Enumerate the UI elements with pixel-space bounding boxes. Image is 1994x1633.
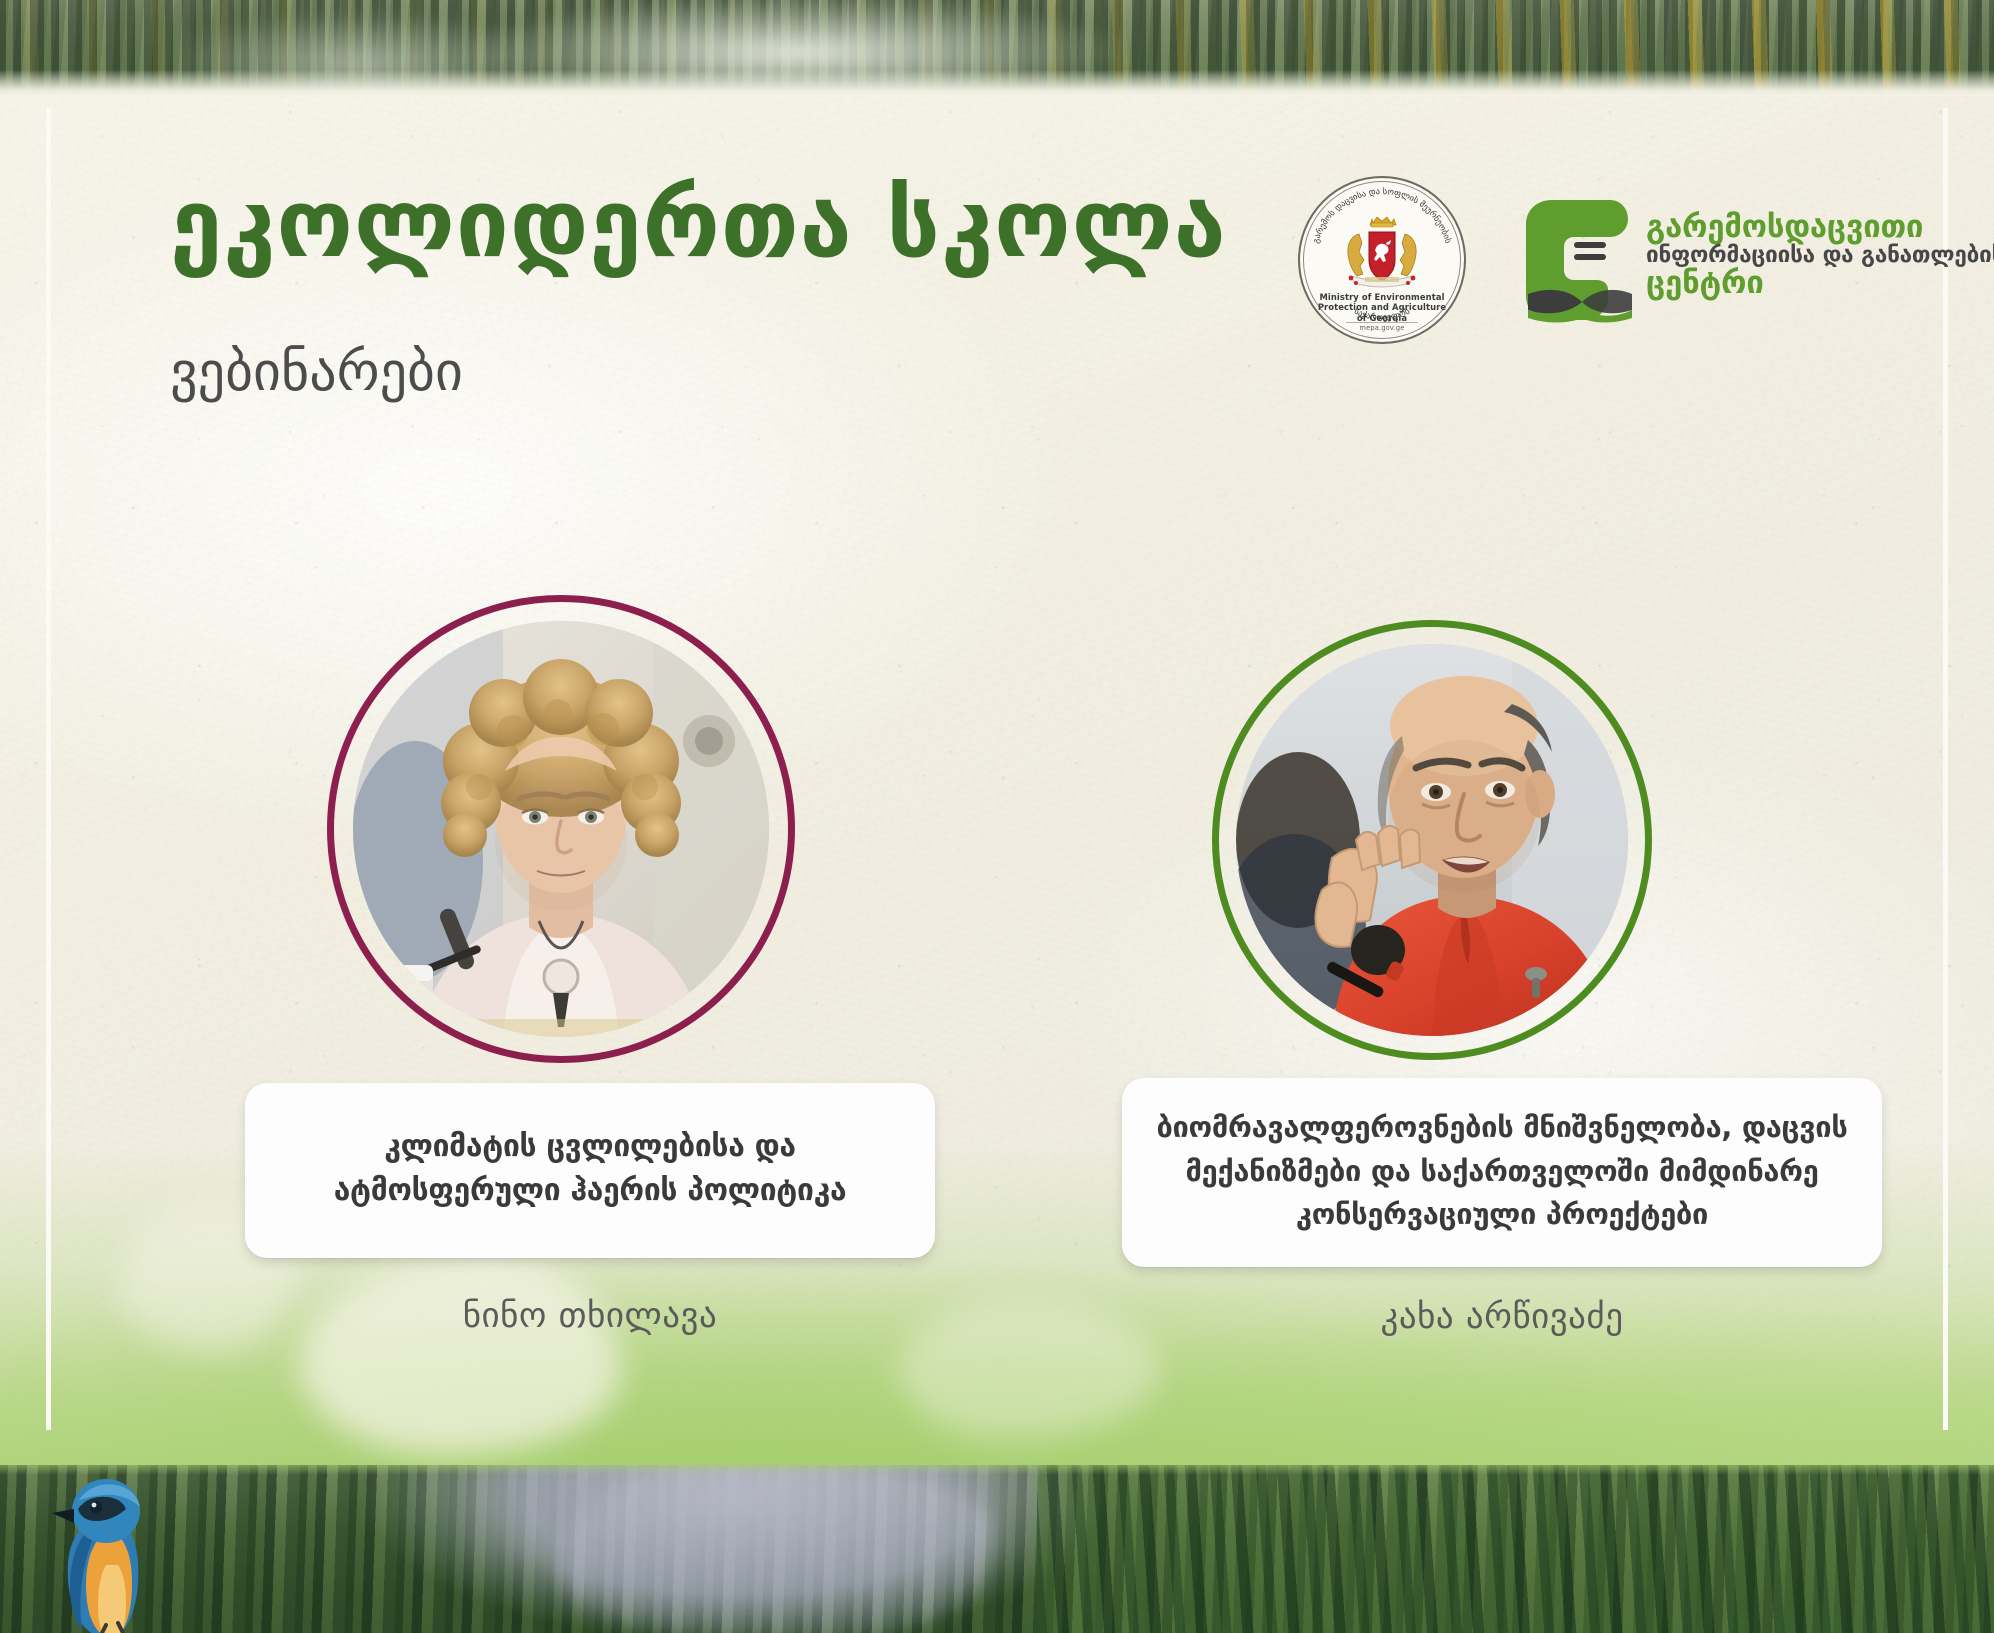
- poster-canvas: ეკოლიდერთა სკოლა ვებინარები გარემოს დაცვ…: [0, 0, 1994, 1633]
- speaker-topic-kakha-artsivadze: ბიომრავალფეროვნების მნიშვნელობა, დაცვის …: [1122, 1078, 1882, 1267]
- page-title: ეკოლიდერთა სკოლა: [170, 178, 1227, 272]
- georgia-coat-of-arms-icon: [1329, 212, 1435, 296]
- speaker-photo-kakha-artsivadze: [1236, 644, 1628, 1036]
- seal-en-line-2: Protection and Agriculture: [1298, 302, 1466, 312]
- portrait-wrap: [1212, 620, 1652, 1060]
- blue-bird-icon: [44, 1465, 220, 1633]
- eiec-logo: გარემოსდაცვითი ინფორმაციისა და განათლები…: [1516, 196, 1936, 326]
- eiec-wordmark: გარემოსდაცვითი ინფორმაციისა და განათლები…: [1646, 212, 1936, 300]
- seal-english-text: Ministry of Environmental Protection and…: [1298, 292, 1466, 323]
- portrait-wrap: [327, 595, 795, 1063]
- eiec-line-2: ინფორმაციისა და განათლების: [1646, 244, 1936, 268]
- speaker-topic-nino-tkhilava: კლიმატის ცვლილებისა და ატმოსფერული ჰაერი…: [245, 1083, 935, 1258]
- speaker-photo-nino-tkhilava: [353, 621, 769, 1037]
- frame-line-right: [1943, 108, 1948, 1430]
- speaker-card-kakha-artsivadze: ბიომრავალფეროვნების მნიშვნელობა, დაცვის …: [1122, 620, 1882, 1337]
- page-subtitle: ვებინარები: [170, 345, 463, 399]
- speaker-card-nino-tkhilava: კლიმატის ცვლილებისა და ატმოსფერული ჰაერი…: [245, 595, 935, 1336]
- seal-en-line-1: Ministry of Environmental: [1298, 292, 1466, 302]
- top-banner-image: [0, 0, 1994, 96]
- eiec-book-leaf-icon: [1516, 198, 1636, 324]
- ministry-seal-logo: გარემოს დაცვისა და სოფლის მეურნეობის საქ…: [1298, 176, 1466, 344]
- bottom-banner-image: [0, 1465, 1994, 1633]
- eiec-line-1: გარემოსდაცვითი: [1646, 212, 1936, 244]
- eiec-line-3: ცენტრი: [1646, 267, 1936, 299]
- frame-line-left: [46, 108, 51, 1430]
- seal-divider: [1346, 322, 1418, 323]
- speaker-name-nino-tkhilava: ნინო თხილავა: [245, 1296, 935, 1336]
- speaker-name-kakha-artsivadze: კახა არწივაძე: [1122, 1297, 1882, 1337]
- seal-url: mepa.gov.ge: [1298, 324, 1466, 332]
